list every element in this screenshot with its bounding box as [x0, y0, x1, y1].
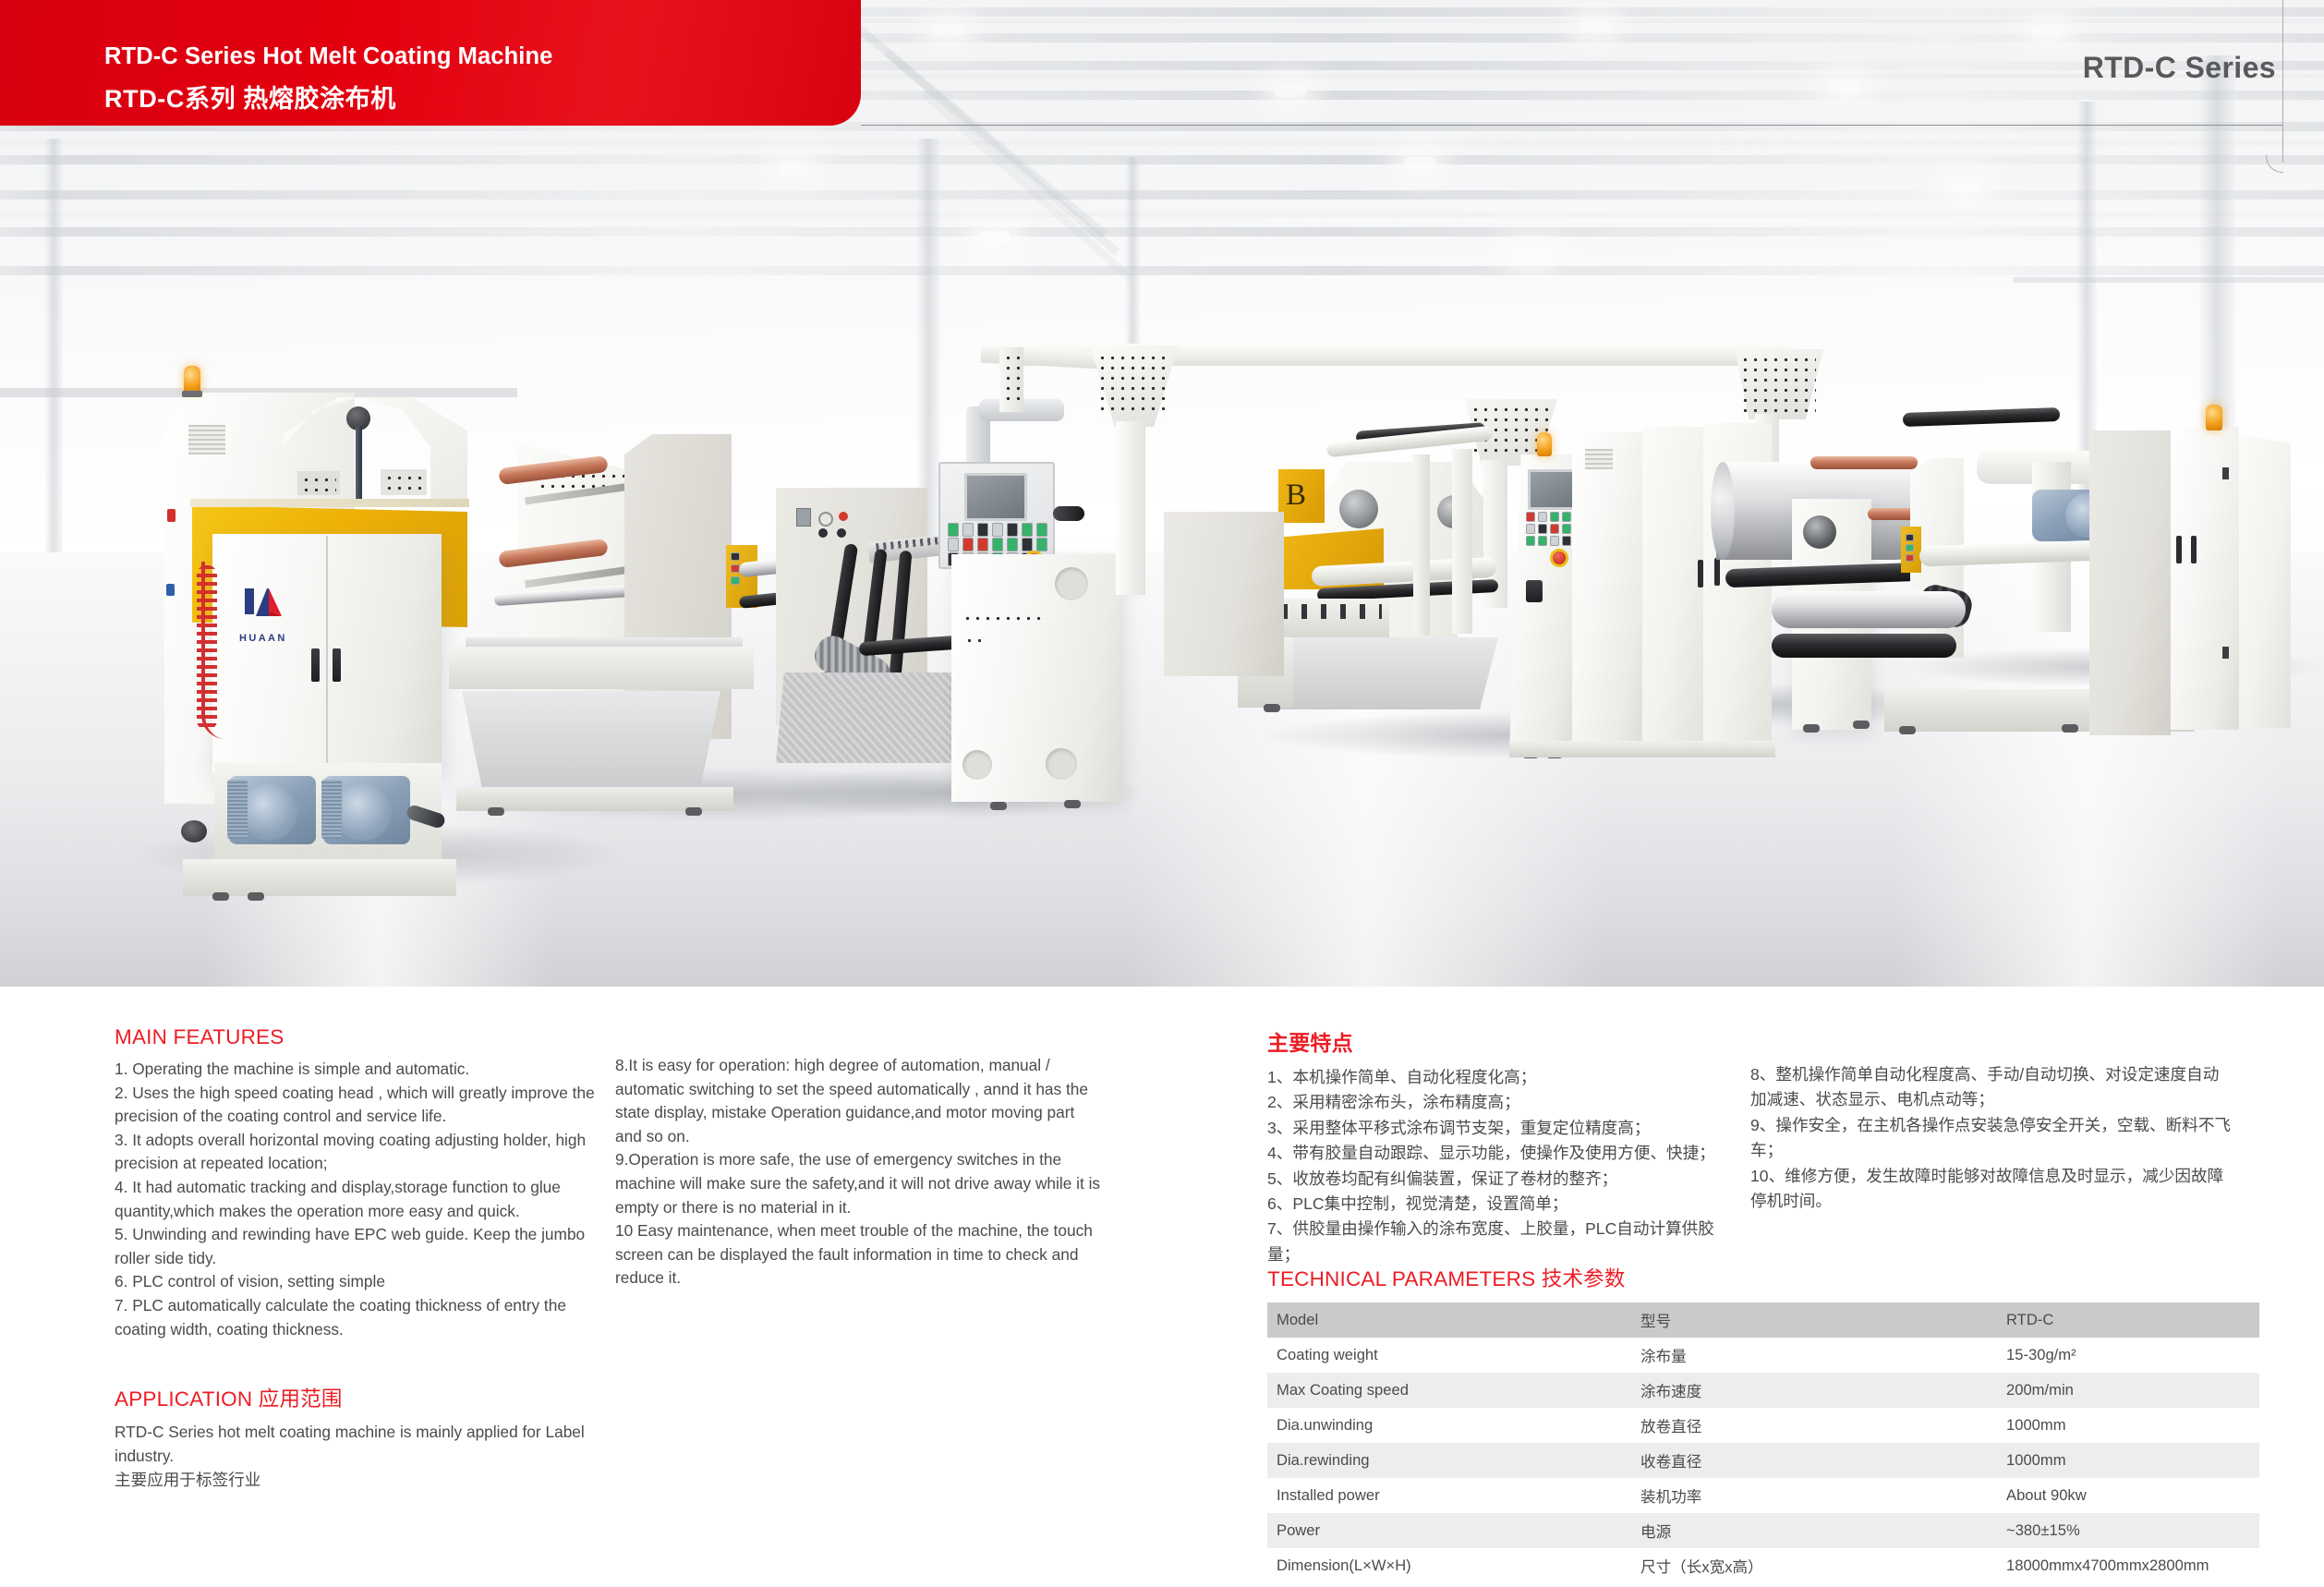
application-section: APPLICATION 应用范围 RTD-C Series hot melt c… [115, 1383, 595, 1494]
indicator-button[interactable] [839, 512, 848, 521]
motor-fan-cover [240, 783, 297, 841]
cell-value: 200m/min [1997, 1373, 2259, 1408]
door-handle[interactable] [1714, 558, 1720, 586]
features-chinese-column-1: 主要特点 1、本机操作简单、自动化程度化高； 2、采用精密涂布头，涂布精度高； … [1267, 1025, 1729, 1267]
air-cylinder [1903, 407, 2060, 427]
hinge [2222, 647, 2229, 659]
leveling-foot [2062, 724, 2078, 733]
motor-fins [227, 780, 248, 839]
cell-value: 18000mmx4700mmx2800mm [1997, 1548, 2259, 1583]
feature-item-cn: 1、本机操作简单、自动化程度化高； [1267, 1065, 1729, 1090]
cabinet-door-split [326, 536, 328, 772]
indicator-button[interactable] [166, 584, 175, 596]
cell-label-cn: 涂布量 [1631, 1338, 1997, 1373]
gantry-column [1116, 421, 1145, 595]
feature-item-cn: 4、带有胶量自动跟踪、显示功能，使操作及使用方便、快捷； [1267, 1141, 1729, 1166]
feature-item-cn: 2、采用精密涂布头，涂布精度高； [1267, 1090, 1729, 1115]
frame-hole [1055, 567, 1088, 600]
cabinet-section [1642, 427, 1703, 754]
feature-item-cn: 9、操作安全，在主机各操作点安装急停安全开关，空载、断料不飞车； [1750, 1113, 2231, 1164]
feature-item-cn: 3、采用整体平移式涂布调节支架，重复定位精度高； [1267, 1116, 1729, 1141]
indicator-button[interactable] [167, 509, 176, 522]
frame-edge [2282, 0, 2283, 163]
title-english: RTD-C Series Hot Melt Coating Machine [104, 43, 552, 70]
vent-grille [1585, 449, 1613, 469]
cabinet-section [1572, 432, 1642, 754]
feature-item: 2. Uses the high speed coating head , wh… [115, 1082, 595, 1129]
cell-label-cn: 放卷直径 [1631, 1408, 1997, 1443]
end-cabinet [2089, 430, 2171, 735]
leveling-foot [1064, 800, 1081, 808]
machine-bed [449, 647, 754, 689]
door-handle[interactable] [1698, 560, 1703, 588]
feature-item-cn: 5、收放卷均配有纠偏装置，保证了卷材的整齐； [1267, 1167, 1729, 1192]
leveling-foot [685, 807, 702, 816]
hinge [2222, 467, 2229, 479]
unwind-stand [1413, 454, 1430, 636]
feature-item: 6. PLC control of vision, setting simple [115, 1270, 595, 1294]
unwind-chuck [1339, 490, 1378, 528]
cell-label-en: Max Coating speed [1267, 1373, 1631, 1408]
cell-value: RTD-C [1997, 1302, 2259, 1338]
platform-step [462, 691, 720, 791]
unwind-marking-text: B [1286, 479, 1319, 515]
warning-beacon-light [1537, 432, 1552, 456]
cell-label-cn: 型号 [1631, 1302, 1997, 1338]
cell-label-en: Dia.unwinding [1267, 1408, 1631, 1443]
application-text-en: RTD-C Series hot melt coating machine is… [115, 1421, 595, 1468]
unwind-stand [1452, 449, 1472, 634]
gantry-bolts [1097, 353, 1171, 418]
coiled-cable-coils [197, 565, 217, 730]
pneumatic-fitting [1053, 506, 1084, 521]
application-heading: APPLICATION 应用范围 [115, 1383, 595, 1412]
cell-label-en: Power [1267, 1513, 1631, 1548]
leveling-foot [1853, 721, 1870, 729]
feature-item: 8.It is easy for operation: high degree … [615, 1054, 1101, 1148]
leveling-foot [990, 802, 1007, 810]
feature-item: 3. It adopts overall horizontal moving c… [115, 1129, 595, 1176]
door-handle[interactable] [333, 648, 341, 682]
beacon-base [182, 391, 202, 397]
web-roll [1772, 591, 1966, 628]
base-slots [1282, 604, 1382, 619]
rewind-chuck [1803, 515, 1836, 549]
table-row: Installed power 装机功率 About 90kw [1267, 1478, 2259, 1513]
feature-item: 4. It had automatic tracking and display… [115, 1176, 595, 1223]
leveling-foot [212, 892, 229, 901]
port [837, 528, 846, 538]
title-banner: RTD-C Series Hot Melt Coating Machine RT… [0, 0, 861, 126]
table-row: Coating weight 涂布量 15-30g/m² [1267, 1338, 2259, 1373]
leveling-foot [1264, 704, 1280, 712]
switch[interactable] [796, 508, 811, 527]
application-text-cn: 主要应用于标签行业 [115, 1468, 595, 1493]
product-photo: HUAAN [0, 0, 2324, 987]
cell-label-cn: 涂布速度 [1631, 1373, 1997, 1408]
cell-label-cn: 装机功率 [1631, 1478, 1997, 1513]
jumbo-roll-end [1711, 462, 1735, 560]
frame-hole [962, 750, 992, 780]
huaan-logo-text: HUAAN [239, 633, 313, 646]
cell-label-en: Model [1267, 1302, 1631, 1338]
end-cabinet [2239, 434, 2291, 728]
cell-label-en: Installed power [1267, 1478, 1631, 1513]
far-rail [2014, 277, 2324, 283]
cell-value: About 90kw [1997, 1478, 2259, 1513]
cell-label-cn: 尺寸（长x宽x高） [1631, 1548, 1997, 1583]
hmi-touch-screen[interactable] [964, 473, 1027, 521]
title-chinese: RTD-C系列 热熔胶涂布机 [104, 79, 396, 115]
cell-label-en: Dimension(L×W×H) [1267, 1548, 1631, 1583]
huaan-logo [245, 587, 287, 629]
leveling-foot [1899, 726, 1916, 734]
cell-label-cn: 电源 [1631, 1513, 1997, 1548]
feature-item: 1. Operating the machine is simple and a… [115, 1058, 595, 1082]
gauge [818, 512, 833, 527]
door-handle[interactable] [2176, 536, 2182, 563]
feature-item-cn: 8、整机操作简单自动化程度高、手动/自动切换、对设定速度自动加减速、状态显示、电… [1750, 1062, 2231, 1113]
door-handle[interactable] [2191, 536, 2197, 563]
technical-parameters-table: Model 型号 RTD-C Coating weight 涂布量 15-30g… [1267, 1302, 2259, 1583]
series-tag: RTD-C Series [2083, 51, 2276, 85]
socket-box[interactable] [1526, 580, 1543, 602]
brochure-page: HUAAN [0, 0, 2324, 1587]
motor-fins [321, 780, 342, 839]
wall-cabinet [1164, 512, 1284, 676]
table-row: Max Coating speed 涂布速度 200m/min [1267, 1373, 2259, 1408]
machine-base [183, 859, 456, 896]
main-features-column-2: 8.It is easy for operation: high degree … [615, 1054, 1101, 1290]
vent-grille [188, 425, 225, 454]
warning-beacon-light [2206, 405, 2222, 430]
platform-step [1267, 637, 1498, 709]
table-row: Power 电源 ~380±15% [1267, 1513, 2259, 1548]
rubber-roller [1810, 456, 1918, 469]
table-row: Dimension(L×W×H) 尺寸（长x宽x高） 18000mmx4700m… [1267, 1548, 2259, 1583]
main-features-heading: MAIN FEATURES [115, 1025, 595, 1049]
feature-item-cn: 7、供胶量由操作输入的涂布宽度、上胶量，PLC自动计算供胶量； [1267, 1217, 1729, 1267]
cell-value: 1000mm [1997, 1408, 2259, 1443]
motor-fan-cover [334, 783, 392, 841]
header-rule [861, 125, 2283, 126]
spindle-shaft [356, 427, 362, 501]
small-roller [181, 820, 207, 842]
frame-hole [1046, 748, 1077, 780]
table-row: Dia.unwinding 放卷直径 1000mm [1267, 1408, 2259, 1443]
web-roll [1772, 634, 1956, 658]
warning-beacon-light [184, 366, 200, 394]
door-handle[interactable] [311, 648, 320, 682]
cell-label-cn: 收卷直径 [1631, 1443, 1997, 1478]
table-row: Dia.rewinding 收卷直径 1000mm [1267, 1443, 2259, 1478]
feature-item-cn: 6、PLC集中控制，视觉清楚，设置简单； [1267, 1192, 1729, 1217]
guard-top-edge [190, 499, 469, 507]
emergency-stop-button[interactable] [1550, 549, 1568, 567]
feature-item: 9.Operation is more safe, the use of eme… [615, 1148, 1101, 1219]
technical-parameters-heading: TECHNICAL PARAMETERS 技术参数 [1267, 1263, 2232, 1292]
checker-plate [776, 672, 979, 763]
cell-value: 15-30g/m² [1997, 1338, 2259, 1373]
cell-label-en: Dia.rewinding [1267, 1443, 1631, 1478]
hmi-button-row [948, 538, 1047, 551]
cabinet-base [1509, 741, 1775, 757]
feature-item-cn: 10、维修方便，发生故障时能够对故障信息及时显示，减少因故障停机时间。 [1750, 1164, 2231, 1215]
leveling-foot [1803, 724, 1820, 733]
features-chinese-heading: 主要特点 [1267, 1025, 1729, 1057]
feature-item: 10 Easy maintenance, when meet trouble o… [615, 1219, 1101, 1290]
cell-value: 1000mm [1997, 1443, 2259, 1478]
port [818, 528, 828, 538]
gantry-bolts [1740, 355, 1816, 412]
cell-label-en: Coating weight [1267, 1338, 1631, 1373]
cell-value: ~380±15% [1997, 1513, 2259, 1548]
leveling-foot [248, 892, 264, 901]
feature-item: 7. PLC automatically calculate the coati… [115, 1294, 595, 1341]
features-chinese-column-2: 8、整机操作简单自动化程度高、手动/自动切换、对设定速度自动加减速、状态显示、电… [1750, 1062, 2231, 1214]
feature-item: 5. Unwinding and rewinding have EPC web … [115, 1223, 595, 1270]
hmi-button-row [948, 523, 1047, 537]
main-features-column-1: MAIN FEATURES 1. Operating the machine i… [115, 1025, 595, 1341]
leveling-foot [488, 807, 504, 816]
technical-parameters-section: TECHNICAL PARAMETERS 技术参数 Model 型号 RTD-C… [1267, 1263, 2232, 1583]
hall-column [44, 139, 63, 573]
table-row: Model 型号 RTD-C [1267, 1302, 2259, 1338]
